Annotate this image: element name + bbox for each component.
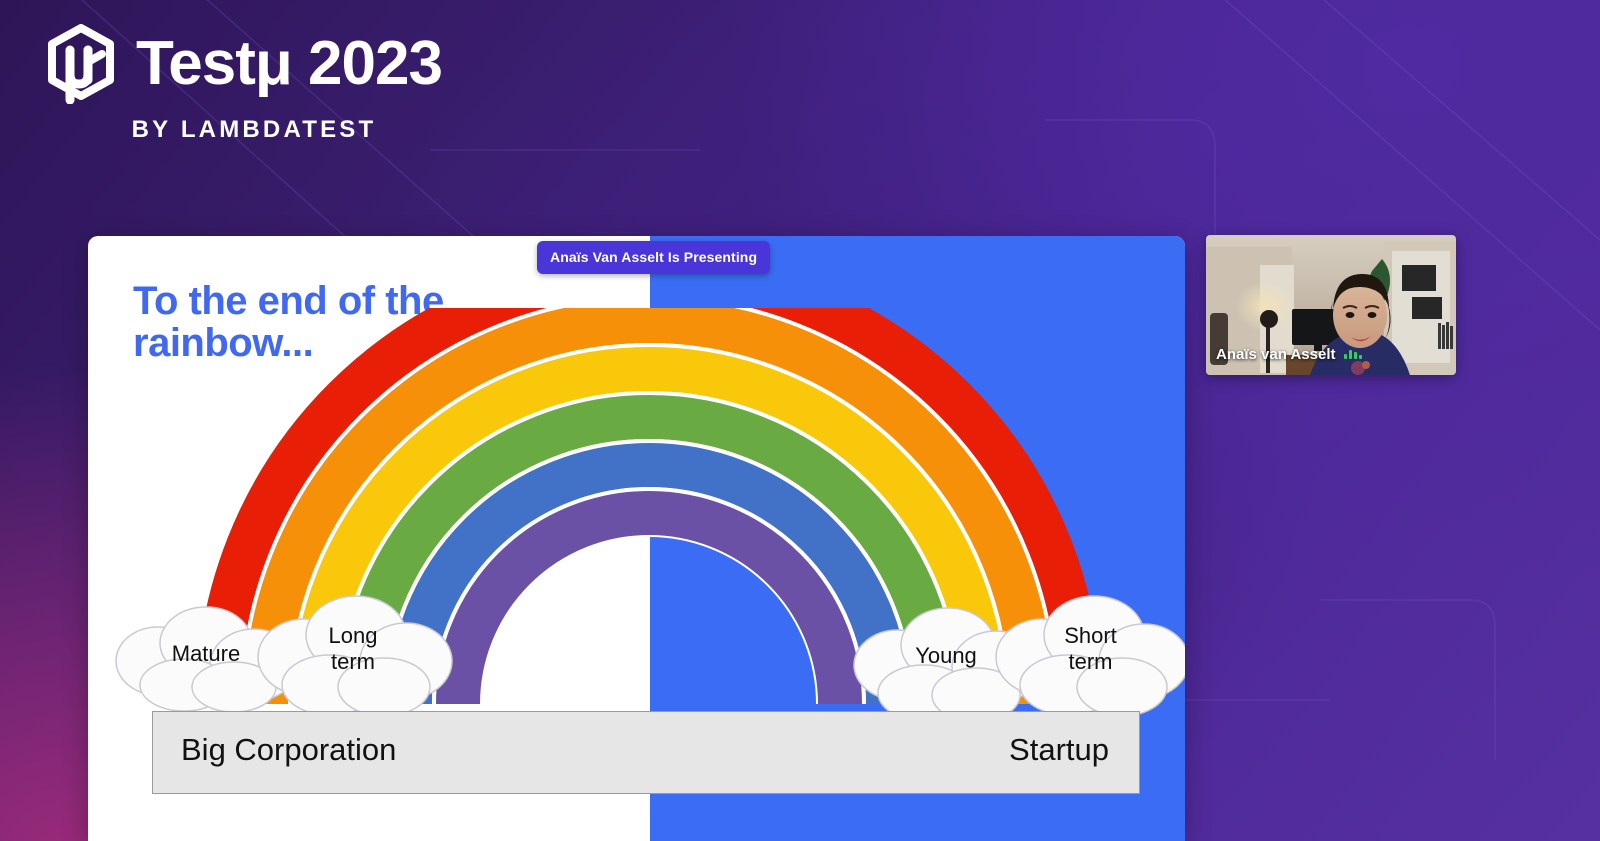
shared-slide[interactable]: To the end of the rainbow... [88,236,1185,841]
participant-video-tile[interactable]: Anaïs van Asselt [1206,235,1456,375]
event-logo: Testμ 2023 BY LAMBDATEST [44,24,514,144]
participant-name-label: Anaïs van Asselt [1216,346,1336,363]
meeting-stage: Testμ 2023 BY LAMBDATEST To the end of t… [0,0,1600,841]
cloud-short-term: Short term [988,591,1185,726]
event-wordmark: Testμ 2023 [136,33,442,95]
axis-label-right: Startup [1009,732,1109,768]
spectrum-axis-bar: Big Corporation Startup [152,711,1140,794]
mic-level-icon [1344,348,1362,359]
testmu-hexagon-mu-icon [44,24,118,104]
cloud-label: Long term [248,623,458,675]
event-tagline: BY LAMBDATEST [44,116,464,144]
presenting-badge: Anaïs Van Asselt Is Presenting [537,241,770,274]
cloud-label: Short term [988,623,1185,675]
axis-label-left: Big Corporation [181,732,396,768]
cloud-long-term: Long term [248,591,458,726]
